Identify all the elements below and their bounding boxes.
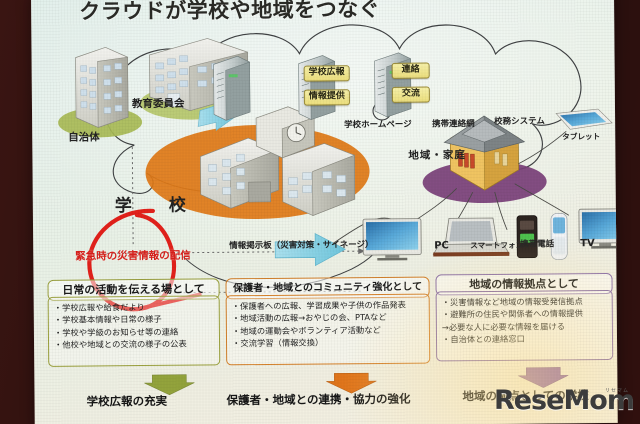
panel-2-bullets: ・保護者への広報、学習成果や子供の作品発表 ・地域活動の広報→おやじの会、PTA… xyxy=(227,295,429,350)
panel-3-bullets: ・災害情報など地域の情報受発信拠点 ・避難所の住民や関係者への情報提供 →必要な… xyxy=(437,291,612,346)
annotation-text: 緊急時の災害情報の配信 xyxy=(75,251,191,263)
panel-regional-info-hub: 地域の情報拠点として ・災害情報など地域の情報受発信拠点 ・避難所の住民や関係者… xyxy=(435,273,611,363)
label-signage: 情報掲示板（災害対策・サイネージ） xyxy=(229,241,373,251)
chip-exchange: 交流 xyxy=(392,87,430,103)
summary-community-cooperation: 保護者・地域との連携・協力の強化 xyxy=(226,391,410,409)
label-pc: PC xyxy=(434,241,449,251)
list-item: ・他校や地域との交流の様子の公表 xyxy=(54,338,219,352)
list-item: ・自治体との連絡窓口 xyxy=(442,332,612,346)
label-community-home: 地域・家庭 xyxy=(408,150,466,161)
list-item: ・交流学習（情報交換） xyxy=(232,336,429,350)
label-municipality: 自治体 xyxy=(68,132,100,143)
page-title: クラウドが学校や地域をつなぐ xyxy=(79,0,380,23)
projection-screen: 学校広報 情報提供 連絡 交流 クラウドが学校や地域をつなぐ 自治体 教育委員会… xyxy=(31,0,618,424)
label-tv: TV xyxy=(580,239,595,249)
label-smartphone: スマートフォン xyxy=(470,242,523,250)
label-mobile-phone: 携帯電話 xyxy=(520,240,554,249)
watermark: リセマム ReseMom xyxy=(494,388,634,414)
panel-community-strengthening: 保護者・地域とのコミュニティ強化として ・保護者への広報、学習成果や子供の作品発… xyxy=(225,277,428,367)
label-tablet: タブレット xyxy=(562,133,600,141)
chip-contact: 連絡 xyxy=(392,63,430,79)
label-school: 学 校 xyxy=(115,198,196,216)
list-item: ・保護者への広報、学習成果や子供の作品発表 xyxy=(232,299,429,313)
label-mobile-contact-network: 携帯連絡網 xyxy=(432,120,475,129)
watermark-ruby: リセマム xyxy=(605,387,629,394)
chip-information-provision: 情報提供 xyxy=(304,89,350,105)
label-board-of-education: 教育委員会 xyxy=(132,99,185,110)
panel-1-bullets: ・学校広報や給食だより ・学校基本情報や日常の様子 ・学校や学級のお知らせ等の連… xyxy=(49,296,219,351)
panel-daily-activities: 日常の活動を伝える場として ・学校広報や給食だより ・学校基本情報や日常の様子 … xyxy=(47,278,218,367)
photographed-slide: 学校広報 情報提供 連絡 交流 クラウドが学校や地域をつなぐ 自治体 教育委員会… xyxy=(0,0,640,424)
summary-school-pr: 学校広報の充実 xyxy=(86,393,167,410)
chip-school-pr: 学校広報 xyxy=(304,65,350,81)
label-school-homepage: 学校ホームページ xyxy=(344,121,412,130)
label-school-affairs-system: 校務システム xyxy=(494,118,545,127)
